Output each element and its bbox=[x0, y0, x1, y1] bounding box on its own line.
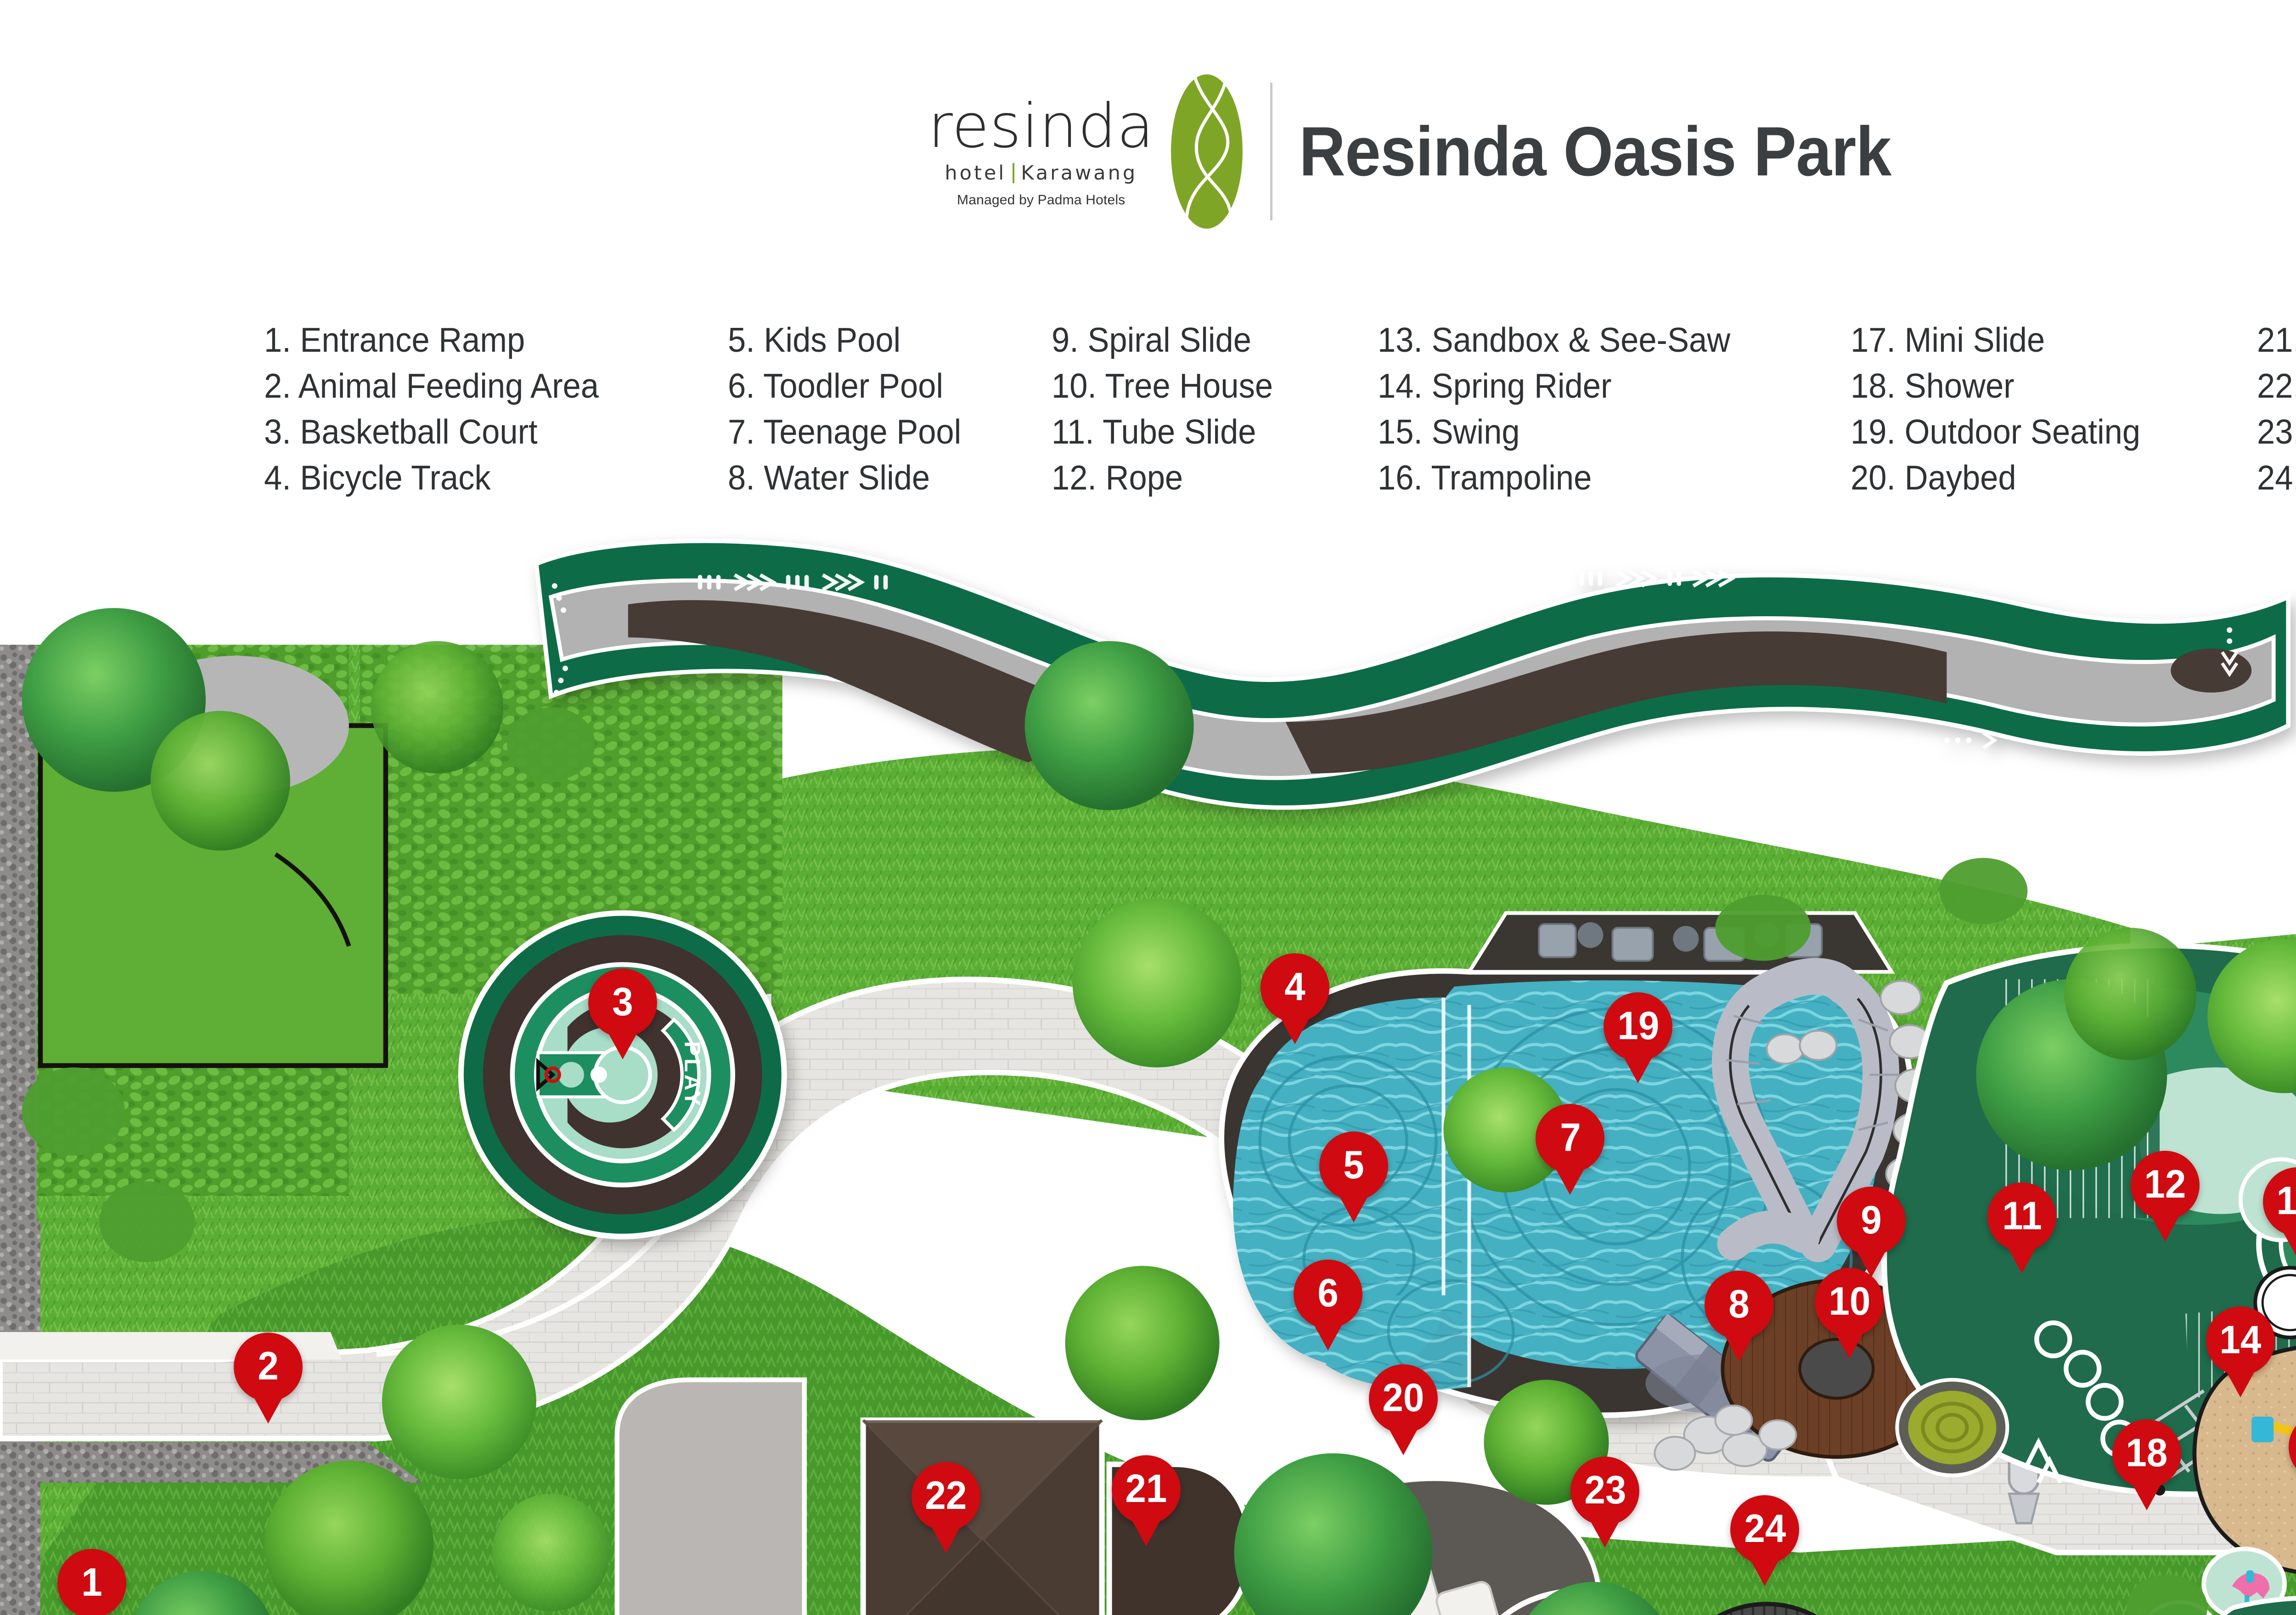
marker-13[interactable]: 13 bbox=[2263, 1167, 2296, 1258]
marker-19[interactable]: 19 bbox=[1604, 992, 1672, 1083]
header-divider bbox=[1270, 83, 1272, 220]
marker-24[interactable]: 24 bbox=[1730, 1495, 1799, 1586]
marker-4[interactable]: 4 bbox=[1261, 953, 1329, 1044]
logo-subline: hotel Karawang bbox=[945, 163, 1137, 183]
legend-item-23[interactable]: 23. Outdoor Seating bbox=[2257, 409, 2296, 455]
marker-pin-head: 13 bbox=[2263, 1167, 2296, 1236]
marker-number: 23 bbox=[1584, 1470, 1626, 1510]
legend-item-6[interactable]: 6. Toodler Pool bbox=[728, 363, 1032, 409]
legend-column-2: 5. Kids Pool 6. Toodler Pool 7. Teenage … bbox=[728, 317, 1052, 501]
marker-10[interactable]: 10 bbox=[1815, 1268, 1884, 1359]
marker-pin-tail bbox=[2131, 1482, 2162, 1510]
marker-pin-tail bbox=[1622, 1055, 1654, 1083]
header: resinda hotel Karawang Managed by Padma … bbox=[0, 60, 2296, 243]
legend-column-4: 13. Sandbox & See-Saw 14. Spring Rider 1… bbox=[1378, 317, 1851, 501]
legend-item-15[interactable]: 15. Swing bbox=[1378, 409, 1822, 455]
legend-column-6: 21. Towel Counter 22. Restroom 23. Outdo… bbox=[2257, 317, 2296, 501]
marker-pin-tail bbox=[1388, 1427, 1419, 1455]
marker-number: 19 bbox=[1617, 1006, 1659, 1046]
marker-pin-tail bbox=[76, 1611, 107, 1615]
marker-number: 8 bbox=[1729, 1284, 1750, 1324]
marker-12[interactable]: 12 bbox=[2131, 1151, 2200, 1242]
legend-column-5: 17. Mini Slide 18. Shower 19. Outdoor Se… bbox=[1851, 317, 2257, 501]
marker-pin-head: 24 bbox=[1730, 1495, 1799, 1564]
marker-number: 5 bbox=[1343, 1145, 1364, 1185]
marker-pin-tail bbox=[2150, 1213, 2181, 1242]
legend-item-16[interactable]: 16. Trampoline bbox=[1378, 455, 1822, 501]
marker-pin-head: 23 bbox=[1570, 1457, 1639, 1525]
resinda-logo: resinda hotel Karawang Managed by Padma … bbox=[928, 73, 1244, 230]
restroom-building bbox=[863, 1420, 1102, 1615]
marker-21[interactable]: 21 bbox=[1112, 1455, 1181, 1546]
marker-pin-tail bbox=[1279, 1016, 1311, 1044]
marker-pin-tail bbox=[1834, 1330, 1865, 1359]
marker-pin-tail bbox=[2282, 1230, 2296, 1258]
marker-pin-tail bbox=[930, 1525, 962, 1553]
map-artwork: PLAY bbox=[0, 523, 2296, 1615]
marker-number: 1 bbox=[81, 1563, 102, 1602]
marker-6[interactable]: 6 bbox=[1294, 1260, 1362, 1351]
leaf-icon bbox=[1170, 73, 1244, 230]
logo-wordmark-block: resinda hotel Karawang Managed by Padma … bbox=[928, 96, 1154, 207]
legend-item-20[interactable]: 20. Daybed bbox=[1851, 455, 2233, 501]
marker-pin-head: 9 bbox=[1837, 1187, 1906, 1255]
marker-pin-head: 1 bbox=[57, 1549, 126, 1615]
marker-pin-head: 22 bbox=[912, 1462, 980, 1531]
marker-number: 6 bbox=[1317, 1273, 1338, 1313]
legend-item-22[interactable]: 22. Restroom bbox=[2257, 363, 2296, 409]
marker-number: 24 bbox=[1744, 1509, 1786, 1548]
logo-wordmark: resinda bbox=[928, 96, 1154, 157]
legend-column-1: 1. Entrance Ramp 2. Animal Feeding Area … bbox=[264, 317, 728, 501]
marker-5[interactable]: 5 bbox=[1319, 1131, 1388, 1222]
legend-item-14[interactable]: 14. Spring Rider bbox=[1378, 363, 1822, 409]
legend: 1. Entrance Ramp 2. Animal Feeding Area … bbox=[264, 317, 2296, 501]
basketball-court: PLAY bbox=[461, 913, 784, 1236]
marker-pin-head: 8 bbox=[1705, 1271, 1773, 1339]
marker-pin-head: 18 bbox=[2112, 1419, 2181, 1488]
marker-pin-head: 10 bbox=[1815, 1268, 1884, 1337]
legend-item-24[interactable]: 24. F&B Area bbox=[2257, 455, 2296, 501]
marker-pin-head: 19 bbox=[1604, 992, 1672, 1061]
marker-pin-head: 6 bbox=[1294, 1260, 1362, 1328]
marker-number: 20 bbox=[1382, 1378, 1424, 1418]
marker-3[interactable]: 3 bbox=[588, 968, 657, 1059]
legend-item-17[interactable]: 17. Mini Slide bbox=[1851, 317, 2233, 363]
legend-item-3[interactable]: 3. Basketball Court bbox=[264, 409, 700, 455]
marker-number: 4 bbox=[1284, 967, 1305, 1007]
marker-pin-tail bbox=[1589, 1519, 1621, 1547]
marker-9[interactable]: 9 bbox=[1837, 1187, 1906, 1277]
marker-7[interactable]: 7 bbox=[1536, 1104, 1604, 1195]
marker-number: 18 bbox=[2126, 1433, 2168, 1473]
logo-subline-divider bbox=[1013, 163, 1014, 183]
marker-pin-head: 20 bbox=[1369, 1364, 1438, 1433]
marker-18[interactable]: 18 bbox=[2112, 1419, 2181, 1510]
legend-item-5[interactable]: 5. Kids Pool bbox=[728, 317, 1032, 363]
logo-subline-city: Karawang bbox=[1021, 163, 1137, 183]
marker-number: 14 bbox=[2220, 1320, 2262, 1360]
marker-number: 11 bbox=[2002, 1196, 2042, 1236]
marker-pin-head: 5 bbox=[1319, 1131, 1388, 1200]
legend-item-1[interactable]: 1. Entrance Ramp bbox=[264, 317, 700, 363]
marker-number: 3 bbox=[612, 982, 633, 1022]
marker-pin-head: 21 bbox=[1112, 1455, 1181, 1524]
legend-item-13[interactable]: 13. Sandbox & See-Saw bbox=[1378, 317, 1822, 363]
marker-pin-tail bbox=[1554, 1166, 1586, 1195]
legend-item-9[interactable]: 9. Spiral Slide bbox=[1052, 317, 1358, 363]
basketball-court-play-label: PLAY bbox=[680, 1041, 704, 1108]
marker-1[interactable]: 1 bbox=[57, 1549, 126, 1615]
legend-item-11[interactable]: 11. Tube Slide bbox=[1052, 409, 1358, 455]
legend-item-12[interactable]: 12. Rope bbox=[1052, 455, 1358, 501]
marker-pin-head: 7 bbox=[1536, 1104, 1604, 1173]
marker-pin-head: 12 bbox=[2131, 1151, 2200, 1220]
marker-23[interactable]: 23 bbox=[1570, 1457, 1639, 1547]
legend-item-4[interactable]: 4. Bicycle Track bbox=[264, 455, 700, 501]
marker-number: 12 bbox=[2144, 1165, 2186, 1204]
legend-item-21[interactable]: 21. Towel Counter bbox=[2257, 317, 2296, 363]
marker-number: 22 bbox=[925, 1476, 967, 1515]
logo-subline-hotel: hotel bbox=[945, 163, 1006, 183]
marker-number: 2 bbox=[258, 1346, 278, 1386]
legend-item-7[interactable]: 7. Teenage Pool bbox=[728, 409, 1032, 455]
park-map[interactable]: PLAY bbox=[0, 523, 2296, 1615]
bicycle-track bbox=[536, 541, 2288, 808]
marker-20[interactable]: 20 bbox=[1369, 1364, 1438, 1455]
marker-pin-head: 11 bbox=[1987, 1182, 2056, 1251]
page-title: Resinda Oasis Park bbox=[1299, 112, 1891, 192]
legend-item-8[interactable]: 8. Water Slide bbox=[728, 455, 1032, 501]
marker-11[interactable]: 11 bbox=[1987, 1182, 2056, 1273]
marker-pin-tail bbox=[253, 1395, 284, 1424]
marker-number: 9 bbox=[1861, 1200, 1882, 1240]
marker-pin-head: 14 bbox=[2206, 1306, 2275, 1375]
marker-pin-tail bbox=[2006, 1245, 2037, 1273]
marker-number: 13 bbox=[2277, 1181, 2296, 1221]
marker-pin-tail bbox=[1749, 1558, 1780, 1586]
marker-pin-tail bbox=[2225, 1369, 2256, 1397]
logo-managed-by: Managed by Padma Hotels bbox=[957, 193, 1125, 207]
marker-pin-tail bbox=[607, 1031, 638, 1059]
marker-8[interactable]: 8 bbox=[1705, 1271, 1773, 1362]
legend-item-19[interactable]: 19. Outdoor Seating bbox=[1851, 409, 2233, 455]
park-map-page: resinda hotel Karawang Managed by Padma … bbox=[0, 0, 2296, 1615]
marker-pin-head: 2 bbox=[234, 1333, 303, 1401]
legend-column-3: 9. Spiral Slide 10. Tree House 11. Tube … bbox=[1052, 317, 1378, 501]
marker-pin-tail bbox=[1338, 1194, 1369, 1222]
marker-number: 7 bbox=[1560, 1118, 1581, 1157]
marker-pin-head: 15 bbox=[2289, 1412, 2296, 1481]
marker-pin-tail bbox=[1131, 1518, 1162, 1546]
legend-item-2[interactable]: 2. Animal Feeding Area bbox=[264, 363, 700, 409]
marker-2[interactable]: 2 bbox=[234, 1333, 303, 1424]
marker-pin-head: 3 bbox=[588, 968, 657, 1037]
marker-14[interactable]: 14 bbox=[2206, 1306, 2275, 1397]
marker-number: 21 bbox=[1125, 1469, 1167, 1508]
marker-22[interactable]: 22 bbox=[912, 1462, 980, 1553]
marker-number: 10 bbox=[1829, 1282, 1870, 1321]
marker-pin-head: 4 bbox=[1261, 953, 1329, 1022]
legend-item-10[interactable]: 10. Tree House bbox=[1052, 363, 1358, 409]
marker-pin-tail bbox=[1312, 1322, 1344, 1351]
marker-15[interactable]: 15 bbox=[2289, 1412, 2296, 1503]
legend-item-18[interactable]: 18. Shower bbox=[1851, 363, 2233, 409]
marker-pin-tail bbox=[1723, 1333, 1755, 1362]
